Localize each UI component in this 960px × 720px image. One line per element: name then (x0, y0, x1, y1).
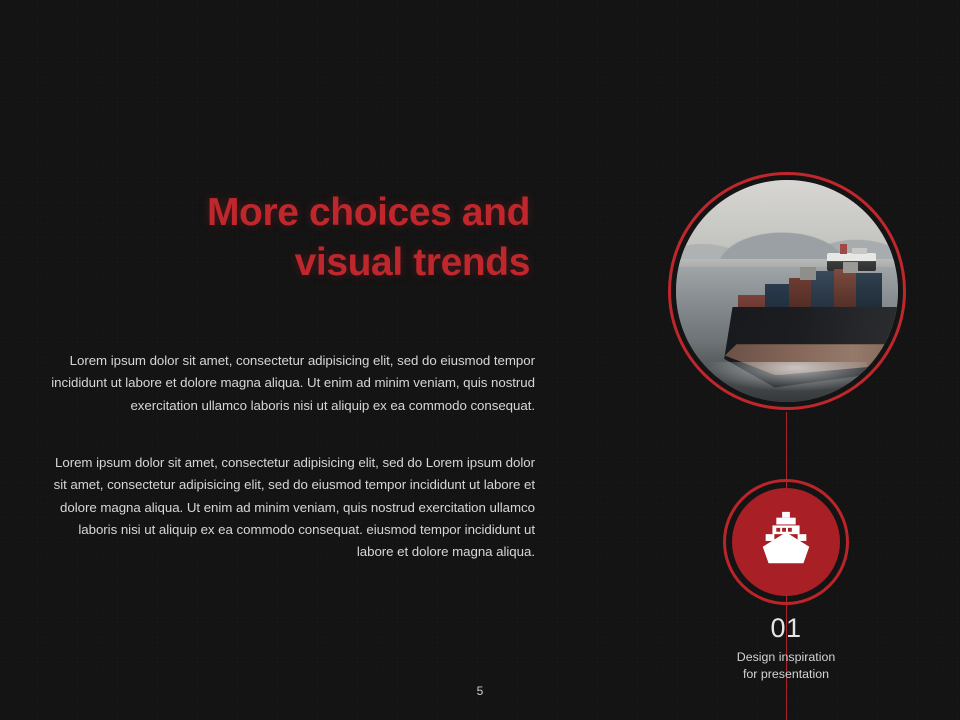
caption-number: 01 (716, 612, 856, 644)
photo-ring-border (668, 172, 906, 410)
ship-icon (755, 508, 817, 570)
page-number: 5 (462, 684, 498, 698)
caption-text: Design inspiration for presentation (696, 649, 876, 682)
body-paragraph-1: Lorem ipsum dolor sit amet, consectetur … (40, 350, 535, 417)
presentation-slide: More choices and visual trends Lorem ips… (0, 0, 960, 720)
page-title: More choices and visual trends (110, 188, 530, 288)
body-paragraph-2: Lorem ipsum dolor sit amet, consectetur … (40, 452, 535, 563)
